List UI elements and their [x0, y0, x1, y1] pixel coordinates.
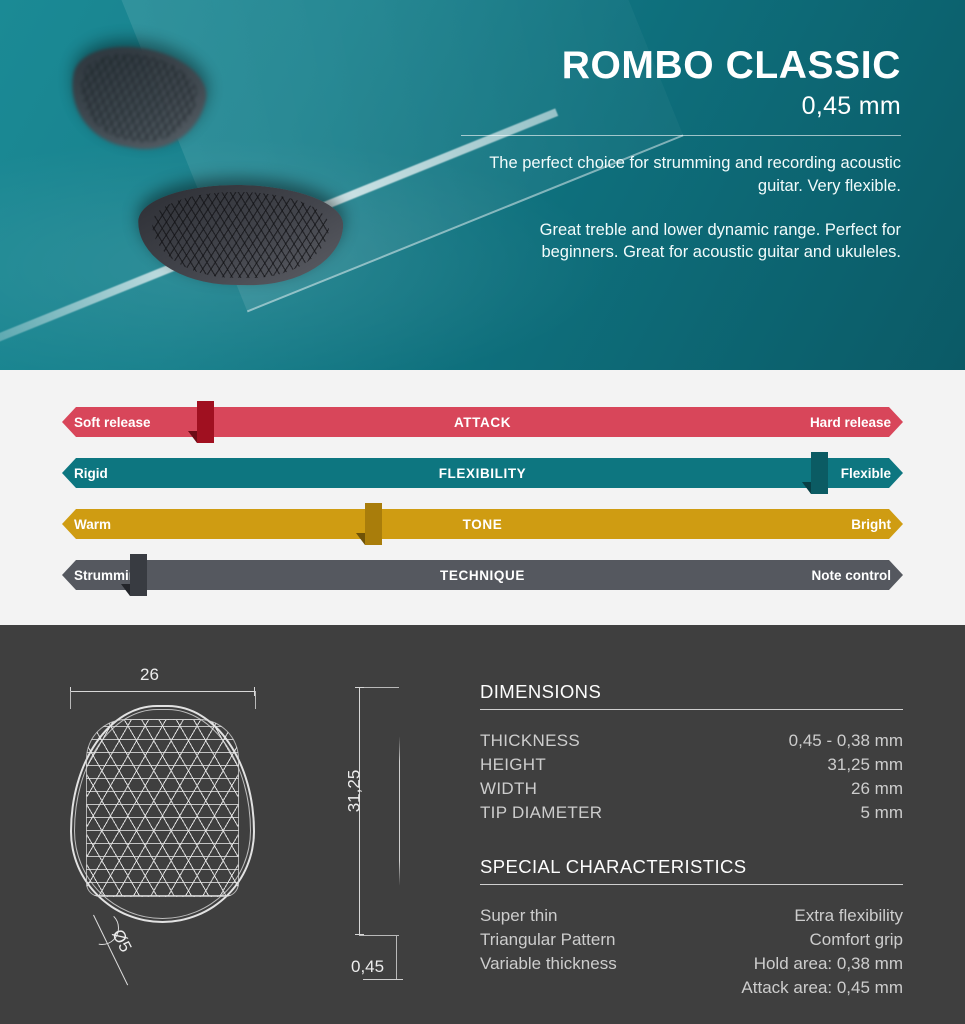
pick-side-view: 31,25 0,45: [345, 671, 445, 1001]
special-left-list: Super thin Triangular Pattern Variable t…: [480, 904, 617, 1001]
attribute-sliders-section: Soft release ATTACK Hard release Rigid F…: [0, 370, 965, 625]
table-row: TIP DIAMETER 5 mm: [480, 801, 903, 825]
list-item: Triangular Pattern: [480, 928, 617, 952]
width-extension-right: [255, 691, 256, 709]
special-characteristics-block: SPECIAL CHARACTERISTICS Super thin Trian…: [480, 856, 903, 1001]
width-dimension-line: [70, 691, 255, 692]
list-item: Super thin: [480, 904, 617, 928]
pick-profile-shape: [393, 687, 400, 935]
thickness-leader-line: [396, 935, 397, 979]
slider-bar-technique[interactable]: Strumming TECHNIQUE Note control: [62, 560, 903, 590]
hero-text-block: ROMBO CLASSIC 0,45 mm The perfect choice…: [461, 46, 901, 264]
dimensions-heading: DIMENSIONS: [480, 681, 903, 710]
list-item: Attack area: 0,45 mm: [741, 976, 903, 1000]
hero-paragraph-2: Great treble and lower dynamic range. Pe…: [461, 219, 901, 265]
height-extension-bottom: [359, 935, 399, 936]
height-label: 31,25: [344, 770, 364, 813]
list-item: Variable thickness: [480, 952, 617, 976]
table-row: HEIGHT 31,25 mm: [480, 753, 903, 777]
dimension-value: 26 mm: [851, 777, 903, 801]
slider-row: Rigid FLEXIBILITY Flexible: [62, 458, 903, 509]
hero-section: ROMBO CLASSIC 0,45 mm The perfect choice…: [0, 0, 965, 370]
thickness-dimension-line: [363, 979, 403, 980]
thickness-label: 0,45: [351, 957, 384, 977]
dimension-value: 5 mm: [861, 801, 904, 825]
slider-marker-attack[interactable]: [197, 401, 214, 443]
triangular-pattern-grid: [86, 719, 239, 897]
pick-front-view: [70, 705, 255, 923]
slider-marker-technique[interactable]: [130, 554, 147, 596]
dimensions-table: THICKNESS 0,45 - 0,38 mm HEIGHT 31,25 mm…: [480, 729, 903, 826]
special-heading: SPECIAL CHARACTERISTICS: [480, 856, 903, 885]
dimension-key: HEIGHT: [480, 753, 546, 777]
slider-row: Soft release ATTACK Hard release: [62, 407, 903, 458]
specifications-section: 26 Ø5 31,25 0,45 DIMENSIONS THICKNESS 0,…: [0, 625, 965, 1024]
special-right-list: Extra flexibility Comfort grip Hold area…: [741, 904, 903, 1001]
table-row: THICKNESS 0,45 - 0,38 mm: [480, 729, 903, 753]
dimension-value: 31,25 mm: [827, 753, 903, 777]
slider-name: FLEXIBILITY: [62, 466, 903, 481]
dimension-key: WIDTH: [480, 777, 537, 801]
slider-row: Warm TONE Bright: [62, 509, 903, 560]
dimension-value: 0,45 - 0,38 mm: [789, 729, 903, 753]
height-extension-top: [359, 687, 399, 688]
slider-name: TECHNIQUE: [62, 568, 903, 583]
page-title: ROMBO CLASSIC: [461, 46, 901, 85]
slider-marker-tone[interactable]: [365, 503, 382, 545]
slider-bar-tone[interactable]: Warm TONE Bright: [62, 509, 903, 539]
slider-name: TONE: [62, 517, 903, 532]
slider-name: ATTACK: [62, 415, 903, 430]
list-item: Extra flexibility: [741, 904, 903, 928]
hero-paragraph-1: The perfect choice for strumming and rec…: [461, 152, 901, 198]
dimension-key: THICKNESS: [480, 729, 580, 753]
spec-text-column: DIMENSIONS THICKNESS 0,45 - 0,38 mm HEIG…: [480, 653, 903, 1024]
slider-bar-flexibility[interactable]: Rigid FLEXIBILITY Flexible: [62, 458, 903, 488]
dimension-key: TIP DIAMETER: [480, 801, 602, 825]
technical-drawings: 26 Ø5 31,25 0,45: [0, 653, 480, 1023]
table-row: WIDTH 26 mm: [480, 777, 903, 801]
slider-marker-flexibility[interactable]: [811, 452, 828, 494]
list-item: Comfort grip: [741, 928, 903, 952]
special-characteristics-lists: Super thin Triangular Pattern Variable t…: [480, 904, 903, 1001]
width-label: 26: [140, 665, 159, 685]
hero-thickness: 0,45 mm: [461, 92, 901, 121]
slider-row: Strumming TECHNIQUE Note control: [62, 560, 903, 611]
list-item: Hold area: 0,38 mm: [741, 952, 903, 976]
hero-divider: [461, 135, 901, 136]
